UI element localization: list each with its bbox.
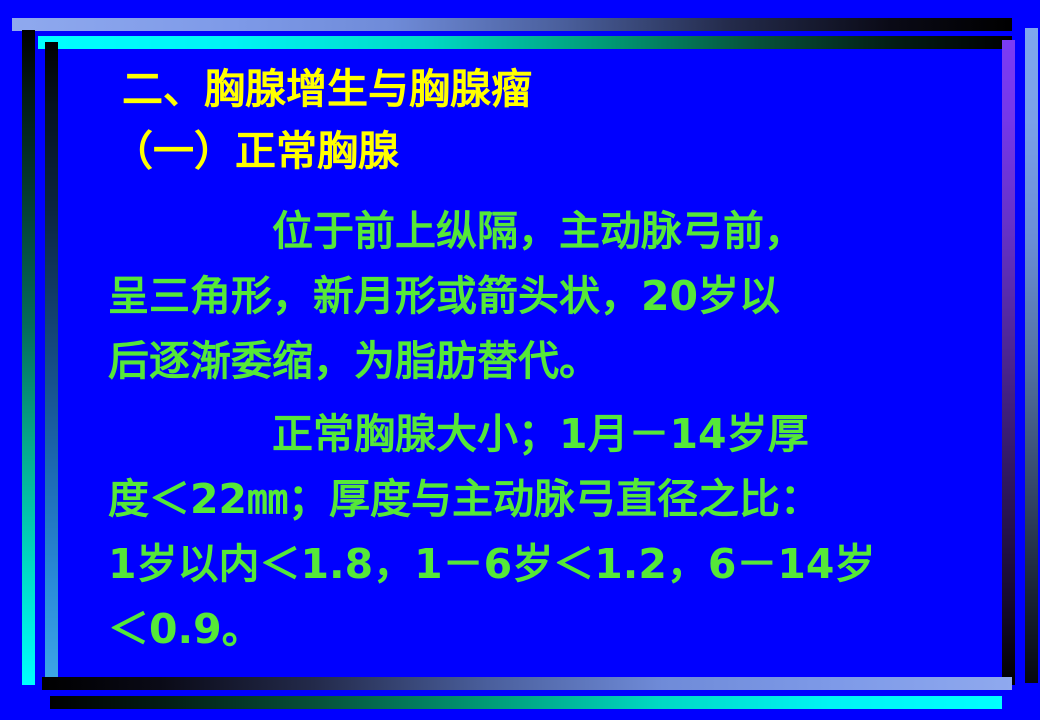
subsection-heading: （一）正常胸腺 xyxy=(112,128,399,174)
body-line-7: ＜0.9。 xyxy=(108,606,263,652)
body-line-5: 度＜22㎜；厚度与主动脉弓直径之比： xyxy=(108,476,821,522)
body-line-6: 1岁以内＜1.8，1－6岁＜1.2，6－14岁 xyxy=(108,541,875,587)
slide-content: 二、胸腺增生与胸腺瘤 （一）正常胸腺 位于前上纵隔，主动脉弓前， 呈三角形，新月… xyxy=(0,0,1040,720)
body-line-2: 呈三角形，新月形或箭头状，20岁以 xyxy=(108,273,780,319)
section-heading: 二、胸腺增生与胸腺瘤 xyxy=(122,66,532,112)
slide-canvas: 二、胸腺增生与胸腺瘤 （一）正常胸腺 位于前上纵隔，主动脉弓前， 呈三角形，新月… xyxy=(0,0,1040,720)
body-line-3: 后逐渐委缩，为脂肪替代。 xyxy=(108,338,600,384)
body-line-1: 位于前上纵隔，主动脉弓前， xyxy=(108,208,805,254)
body-line-4: 正常胸腺大小；1月－14岁厚 xyxy=(108,411,809,457)
